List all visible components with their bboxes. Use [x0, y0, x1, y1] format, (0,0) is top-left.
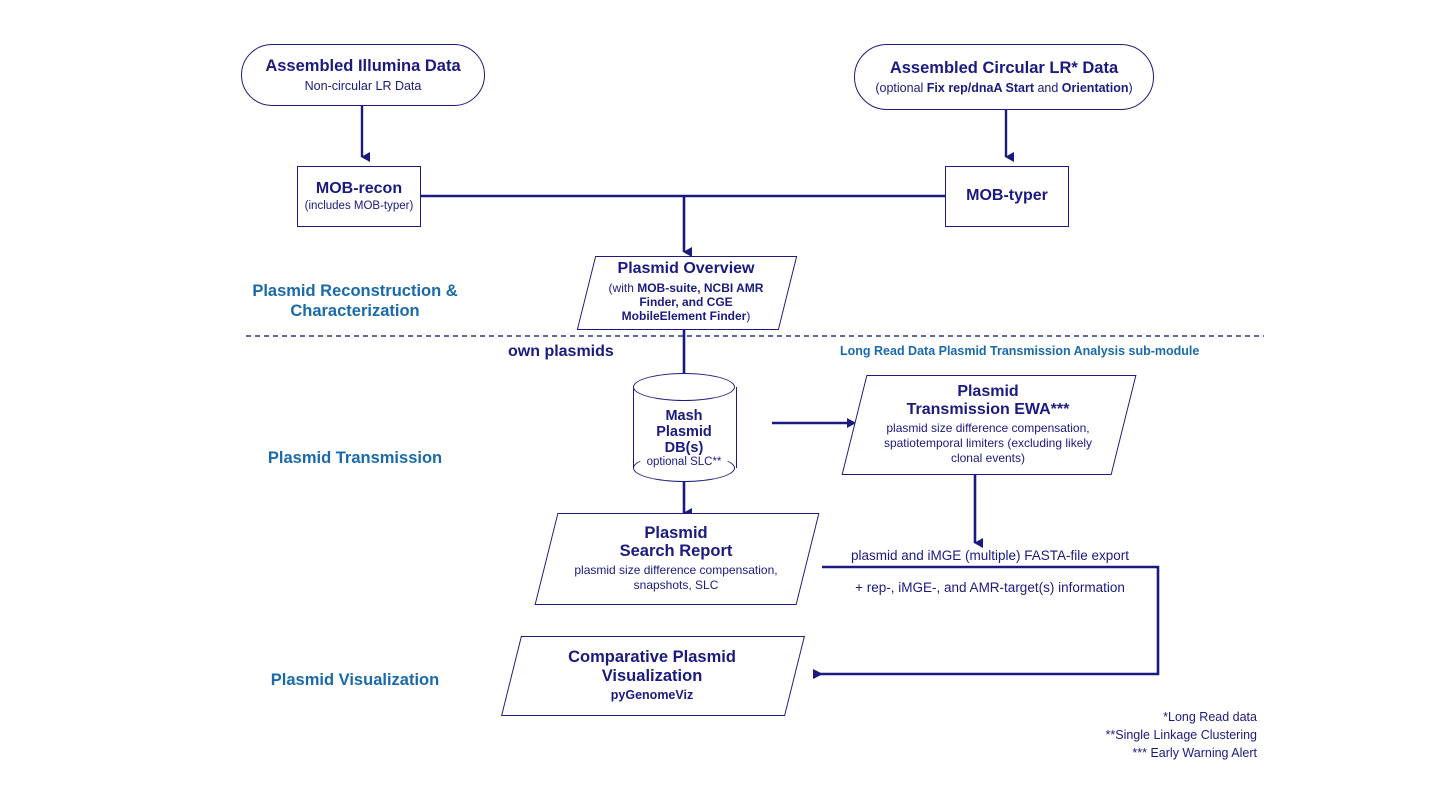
node-mob-recon[interactable]: MOB-recon (includes MOB-typer) [297, 166, 421, 227]
footnote-long-read-data: *Long Read data [957, 709, 1257, 727]
subtitle-suffix: ) [1128, 81, 1132, 95]
node-title-line1: Plasmid [957, 383, 1018, 401]
node-mash-plasmid-db[interactable]: Mash Plasmid DB(s) optional SLC** [633, 373, 735, 482]
node-subtitle: plasmid size difference compensation, sp… [872, 421, 1104, 465]
subtitle-bold-orientation: Orientation [1062, 81, 1129, 95]
footnote-early-warning-alert: *** Early Warning Alert [957, 745, 1257, 763]
section-label-plasmid-visualization: Plasmid Visualization [210, 670, 500, 690]
section-label-plasmid-transmission: Plasmid Transmission [210, 448, 500, 468]
node-title-line2: Plasmid [656, 424, 712, 440]
node-plasmid-overview[interactable]: Plasmid Overview (with MOB-suite, NCBI A… [586, 256, 786, 328]
node-assembled-circular-lr-data[interactable]: Assembled Circular LR* Data (optional Fi… [854, 44, 1154, 110]
node-content: Mash Plasmid DB(s) optional SLC** [633, 395, 735, 480]
node-comparative-plasmid-visualization[interactable]: Comparative Plasmid Visualization pyGeno… [511, 636, 793, 714]
node-subtitle: plasmid size difference compensation, sn… [563, 563, 789, 592]
subtitle-prefix: (optional [875, 81, 926, 95]
node-content: Plasmid Search Report plasmid size diffe… [546, 524, 806, 593]
node-subtitle: optional SLC** [647, 456, 722, 468]
node-title-line3: DB(s) [665, 440, 704, 456]
footnotes: *Long Read data **Single Linkage Cluster… [957, 709, 1257, 762]
node-title: Assembled Circular LR* Data [890, 59, 1118, 78]
footnote-single-linkage-clustering: **Single Linkage Clustering [957, 727, 1257, 745]
node-title: Plasmid Overview [618, 260, 755, 278]
section-label-line1: Plasmid Transmission [210, 448, 500, 468]
node-title-line1: Mash [665, 408, 702, 424]
annotation-own-plasmids: own plasmids [508, 343, 614, 361]
annotation-export-line1: plasmid and iMGE (multiple) FASTA-file e… [822, 548, 1158, 563]
section-label-line1: Plasmid Reconstruction & [210, 281, 500, 301]
diagram-canvas: Assembled Illumina Data Non-circular LR … [0, 0, 1440, 810]
section-label-line1: Plasmid Visualization [210, 670, 500, 690]
node-assembled-illumina-data[interactable]: Assembled Illumina Data Non-circular LR … [241, 44, 485, 106]
node-subtitle: pyGenomeViz [611, 688, 693, 702]
node-title-line2: Search Report [620, 542, 733, 561]
node-title: MOB-typer [966, 187, 1048, 205]
connector-mobrecon-mobtyper [421, 196, 945, 252]
subtitle-suffix: ) [746, 309, 750, 323]
annotation-sub-module-label: Long Read Data Plasmid Transmission Anal… [840, 344, 1199, 358]
node-title-line1: Plasmid [644, 524, 707, 543]
node-title-line1: Comparative Plasmid [568, 648, 736, 667]
node-content: Plasmid Overview (with MOB-suite, NCBI A… [586, 260, 786, 323]
node-title: Assembled Illumina Data [265, 57, 460, 76]
node-title-line2: Transmission EWA*** [907, 401, 1070, 419]
subtitle-bold-tools: MOB-suite, NCBI AMR Finder, and CGE Mobi… [622, 281, 764, 324]
section-label-plasmid-reconstruction: Plasmid Reconstruction & Characterizatio… [210, 281, 500, 321]
node-content: Plasmid Transmission EWA*** plasmid size… [854, 383, 1122, 465]
node-title: MOB-recon [316, 180, 402, 198]
subtitle-prefix: (with [609, 281, 638, 295]
node-content: Comparative Plasmid Visualization pyGeno… [511, 648, 793, 702]
node-plasmid-search-report[interactable]: Plasmid Search Report plasmid size diffe… [546, 513, 806, 603]
node-subtitle: Non-circular LR Data [305, 79, 422, 93]
section-label-line2: Characterization [210, 301, 500, 321]
node-title-line2: Visualization [602, 667, 703, 686]
node-subtitle: (with MOB-suite, NCBI AMR Finder, and CG… [597, 281, 775, 324]
node-mob-typer[interactable]: MOB-typer [945, 166, 1069, 227]
annotation-export-line2: + rep-, iMGE-, and AMR-target(s) informa… [822, 580, 1158, 595]
subtitle-bold-fix-start: Fix rep/dnaA Start [927, 81, 1034, 95]
subtitle-mid: and [1034, 81, 1062, 95]
node-plasmid-transmission-ewa[interactable]: Plasmid Transmission EWA*** plasmid size… [854, 375, 1122, 473]
node-subtitle: (optional Fix rep/dnaA Start and Orienta… [875, 81, 1132, 95]
node-subtitle: (includes MOB-typer) [305, 200, 414, 213]
